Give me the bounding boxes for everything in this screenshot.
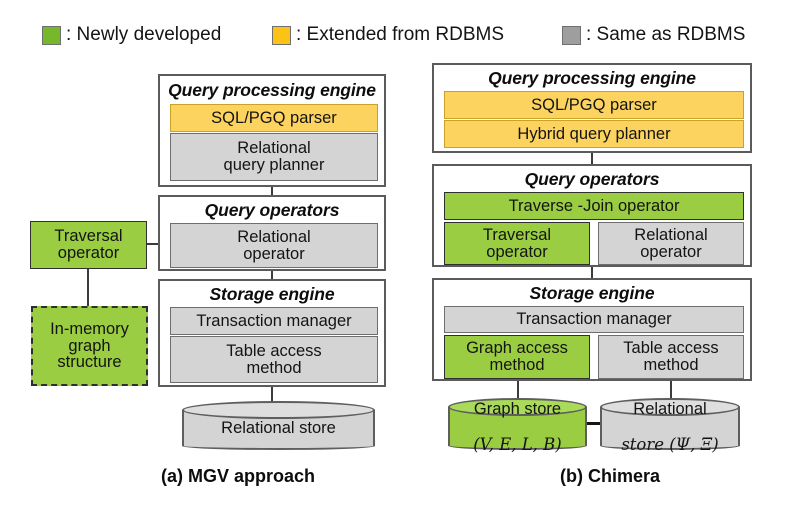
right-graph-store-line1: Graph store bbox=[473, 401, 562, 419]
legend: : Newly developed : Extended from RDBMS … bbox=[0, 20, 800, 50]
right-storage-engine-panel: Storage engine Transaction manager Graph… bbox=[432, 278, 752, 381]
left-query-operators-title: Query operators bbox=[160, 200, 384, 221]
right-storage-engine-title: Storage engine bbox=[434, 283, 750, 304]
legend-item-newly-developed: : Newly developed bbox=[42, 20, 221, 50]
right-table-access-method-box[interactable]: Table access method bbox=[598, 335, 744, 379]
left-relational-operator-box[interactable]: Relational operator bbox=[170, 223, 378, 268]
right-traversal-operator-label: Traversal operator bbox=[483, 227, 551, 261]
right-relational-operator-label: Relational operator bbox=[634, 227, 707, 261]
left-relational-operator-label: Relational operator bbox=[237, 229, 310, 263]
right-hybrid-query-planner-label: Hybrid query planner bbox=[517, 126, 670, 143]
left-in-memory-graph-structure-label: In-memory graph structure bbox=[50, 321, 129, 372]
diagram-canvas: : Newly developed : Extended from RDBMS … bbox=[0, 0, 800, 508]
right-graph-access-method-label: Graph access method bbox=[466, 340, 568, 374]
right-relational-store-label: Relational store (Ψ, Ξ) bbox=[600, 398, 740, 450]
right-caption: (b) Chimera bbox=[480, 466, 740, 487]
left-table-access-method-box[interactable]: Table access method bbox=[170, 336, 378, 383]
left-relational-query-planner-box[interactable]: Relational query planner bbox=[170, 133, 378, 181]
connector-right-qpe-to-operators bbox=[591, 152, 593, 164]
right-traverse-join-operator-label: Traverse -Join operator bbox=[509, 198, 680, 215]
left-relational-query-planner-label: Relational query planner bbox=[224, 140, 325, 174]
legend-item-extended-from-rdbms: : Extended from RDBMS bbox=[272, 20, 504, 50]
left-traversal-operator-label: Traversal operator bbox=[54, 228, 122, 262]
right-transaction-manager-label: Transaction manager bbox=[516, 311, 671, 328]
left-sql-pgq-parser-label: SQL/PGQ parser bbox=[211, 110, 337, 127]
right-relational-operator-box[interactable]: Relational operator bbox=[598, 222, 744, 265]
right-sql-pgq-parser-box[interactable]: SQL/PGQ parser bbox=[444, 91, 744, 119]
legend-swatch-gray-icon bbox=[562, 26, 581, 45]
legend-swatch-green-icon bbox=[42, 26, 61, 45]
left-in-memory-graph-structure-box[interactable]: In-memory graph structure bbox=[31, 306, 148, 386]
left-transaction-manager-label: Transaction manager bbox=[196, 313, 351, 330]
right-graph-access-method-box[interactable]: Graph access method bbox=[444, 335, 590, 379]
left-query-processing-engine-panel: Query processing engine SQL/PGQ parser R… bbox=[158, 74, 386, 187]
left-transaction-manager-box[interactable]: Transaction manager bbox=[170, 307, 378, 335]
left-storage-engine-title: Storage engine bbox=[160, 284, 384, 305]
right-traverse-join-operator-box[interactable]: Traverse -Join operator bbox=[444, 192, 744, 220]
right-traversal-operator-box[interactable]: Traversal operator bbox=[444, 222, 590, 265]
connector-right-operators-to-storage bbox=[591, 266, 593, 278]
right-query-processing-engine-title: Query processing engine bbox=[434, 68, 750, 89]
left-storage-engine-panel: Storage engine Transaction manager Table… bbox=[158, 279, 386, 387]
left-query-processing-engine-title: Query processing engine bbox=[160, 80, 384, 101]
left-sql-pgq-parser-box[interactable]: SQL/PGQ parser bbox=[170, 104, 378, 132]
legend-item-same-as-rdbms: : Same as RDBMS bbox=[562, 20, 745, 50]
right-relational-store-line1: Relational bbox=[621, 401, 718, 419]
right-query-operators-title: Query operators bbox=[434, 169, 750, 190]
left-table-access-method-label: Table access method bbox=[226, 343, 321, 377]
right-graph-store-line2: (V, E, L, B) bbox=[473, 436, 562, 454]
legend-label-extended-from-rdbms: : Extended from RDBMS bbox=[296, 24, 504, 46]
legend-label-same-as-rdbms: : Same as RDBMS bbox=[586, 24, 745, 46]
connector-traversal-to-inmemory-graph bbox=[87, 268, 89, 307]
right-hybrid-query-planner-box[interactable]: Hybrid query planner bbox=[444, 120, 744, 148]
left-relational-store-label: Relational store bbox=[182, 401, 375, 450]
right-query-processing-engine-panel: Query processing engine SQL/PGQ parser H… bbox=[432, 63, 752, 153]
right-relational-store-cylinder[interactable]: Relational store (Ψ, Ξ) bbox=[600, 398, 740, 450]
right-table-access-method-label: Table access method bbox=[623, 340, 718, 374]
left-caption: (a) MGV approach bbox=[108, 466, 368, 487]
legend-label-newly-developed: : Newly developed bbox=[66, 24, 221, 46]
right-graph-store-cylinder[interactable]: Graph store (V, E, L, B) bbox=[448, 398, 587, 450]
left-query-operators-panel: Query operators Relational operator bbox=[158, 195, 386, 271]
legend-swatch-yellow-icon bbox=[272, 26, 291, 45]
right-transaction-manager-box[interactable]: Transaction manager bbox=[444, 306, 744, 333]
left-traversal-operator-box[interactable]: Traversal operator bbox=[30, 221, 147, 269]
left-relational-store-cylinder[interactable]: Relational store bbox=[182, 401, 375, 450]
right-sql-pgq-parser-label: SQL/PGQ parser bbox=[531, 97, 657, 114]
right-relational-store-line2: store (Ψ, Ξ) bbox=[621, 436, 718, 454]
right-query-operators-panel: Query operators Traverse -Join operator … bbox=[432, 164, 752, 267]
right-graph-store-label: Graph store (V, E, L, B) bbox=[448, 398, 587, 450]
